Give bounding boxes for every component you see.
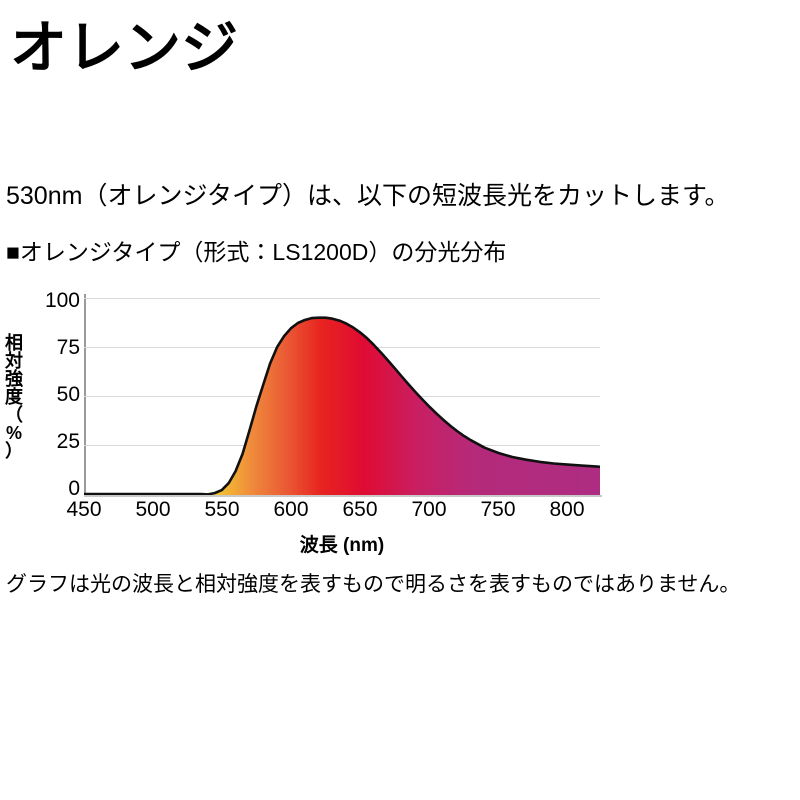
y-axis-title-char: 度 (2, 388, 26, 406)
y-axis-title-char: 相 (2, 334, 26, 352)
x-axis-tick-labels: 450 500 550 600 650 700 750 800 (84, 498, 600, 528)
x-tick-label: 700 (394, 498, 464, 521)
plot-area (84, 298, 600, 495)
x-tick-label: 450 (49, 498, 119, 521)
chart-footnote: グラフは光の波長と相対強度を表すもので明るさを表すものではありません。 (6, 573, 740, 596)
plot-inner (84, 298, 600, 495)
x-tick-label: 550 (187, 498, 257, 521)
x-tick-label: 600 (256, 498, 326, 521)
curve-gradient-fill (84, 298, 600, 495)
x-tick-label: 800 (532, 498, 602, 521)
spectral-curve (84, 298, 600, 495)
y-axis-title-char: （ (2, 406, 26, 424)
y-axis-title-char: 対 (2, 352, 26, 370)
x-tick-label: 750 (463, 498, 533, 521)
y-tick-label: 100 (30, 290, 80, 311)
y-axis-title-char: 強 (2, 370, 26, 388)
y-tick-label: 75 (30, 337, 80, 358)
y-tick-label: 25 (30, 431, 80, 452)
x-axis-title: 波長 (nm) (84, 530, 600, 557)
spectral-distribution-chart: 相 対 強 度 （ % ） 100 75 50 25 0 (0, 290, 760, 560)
x-tick-label: 500 (118, 498, 188, 521)
y-axis-title: 相 対 強 度 （ % ） (2, 334, 26, 460)
y-tick-label: 50 (30, 384, 80, 405)
page-title: オレンジ (10, 17, 238, 80)
y-axis-title-char: ） (2, 442, 26, 460)
y-axis-tick-labels: 100 75 50 25 0 (26, 290, 80, 500)
x-tick-label: 650 (325, 498, 395, 521)
y-tick-label: 0 (30, 478, 80, 499)
chart-section-heading: ■オレンジタイプ（形式：LS1200D）の分光分布 (6, 240, 506, 265)
y-axis-title-char: % (2, 424, 26, 442)
lead-description-text: 530nm（オレンジタイプ）は、以下の短波長光をカットします。 (6, 183, 729, 211)
x-axis-line (84, 495, 602, 497)
